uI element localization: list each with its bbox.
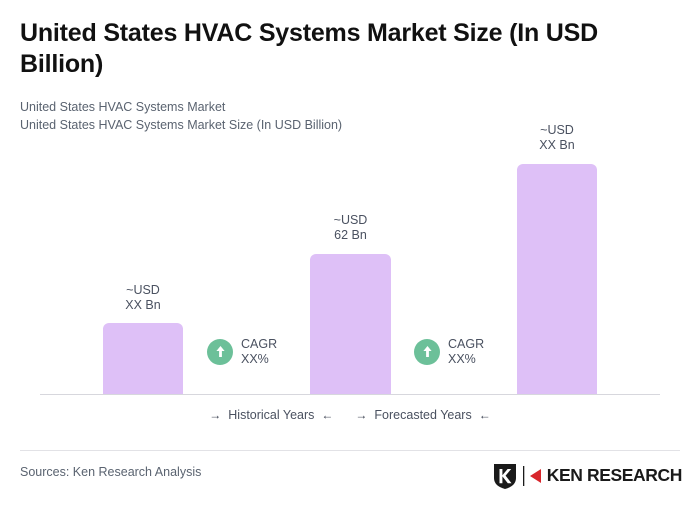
bar-value-label-3-line1: ~USD <box>540 123 574 137</box>
arrow-right-icon: → <box>355 408 367 422</box>
cagr-badge-forecasted[interactable]: CAGR XX% <box>414 337 484 366</box>
arrow-up-icon <box>414 339 440 365</box>
bar-value-label-1: ~USD XX Bn <box>103 283 183 312</box>
x-axis-line <box>40 394 660 395</box>
period-historical-label: Historical Years <box>228 408 314 422</box>
bar-chart-plot: ~USD XX Bn CAGR XX% ~USD 62 Bn <box>0 0 700 400</box>
sources-note: Sources: Ken Research Analysis <box>20 465 201 479</box>
bar-value-label-2: ~USD 62 Bn <box>310 213 391 242</box>
cagr-value-2: XX% <box>448 352 476 366</box>
period-historical: → Historical Years ← <box>209 408 333 422</box>
cagr-label-1: CAGR <box>241 337 277 351</box>
bar-value-label-3-line2: XX Bn <box>539 138 574 152</box>
cagr-label-2: CAGR <box>448 337 484 351</box>
arrow-left-icon: ← <box>479 408 491 422</box>
bar-forecasted[interactable] <box>517 164 597 394</box>
cagr-badge-historical-text: CAGR XX% <box>241 337 277 366</box>
bar-historical[interactable] <box>103 323 183 394</box>
chart-page: United States HVAC Systems Market Size (… <box>0 0 700 520</box>
arrow-left-icon: ← <box>321 408 333 422</box>
period-legend: → Historical Years ← → Forecasted Years … <box>0 408 700 422</box>
bar-value-label-2-line2: 62 Bn <box>334 228 367 242</box>
footer-divider <box>20 450 680 451</box>
period-forecasted: → Forecasted Years ← <box>355 408 490 422</box>
bar-value-label-1-line1: ~USD <box>126 283 160 297</box>
cagr-badge-historical[interactable]: CAGR XX% <box>207 337 277 366</box>
period-forecasted-label: Forecasted Years <box>374 408 471 422</box>
cagr-value-1: XX% <box>241 352 269 366</box>
bar-mid-year[interactable] <box>310 254 391 394</box>
arrow-up-icon <box>207 339 233 365</box>
arrow-right-icon: → <box>209 408 221 422</box>
shield-k-icon <box>492 462 518 490</box>
bar-value-label-3: ~USD XX Bn <box>517 123 597 152</box>
brand-logo: KEN RESEARCH <box>492 462 682 490</box>
bar-value-label-1-line2: XX Bn <box>125 298 160 312</box>
logo-divider-icon <box>522 466 525 486</box>
cagr-badge-forecasted-text: CAGR XX% <box>448 337 484 366</box>
logo-red-triangle-icon <box>529 468 543 484</box>
brand-wordmark: KEN RESEARCH <box>547 467 682 485</box>
bar-value-label-2-line1: ~USD <box>334 213 368 227</box>
